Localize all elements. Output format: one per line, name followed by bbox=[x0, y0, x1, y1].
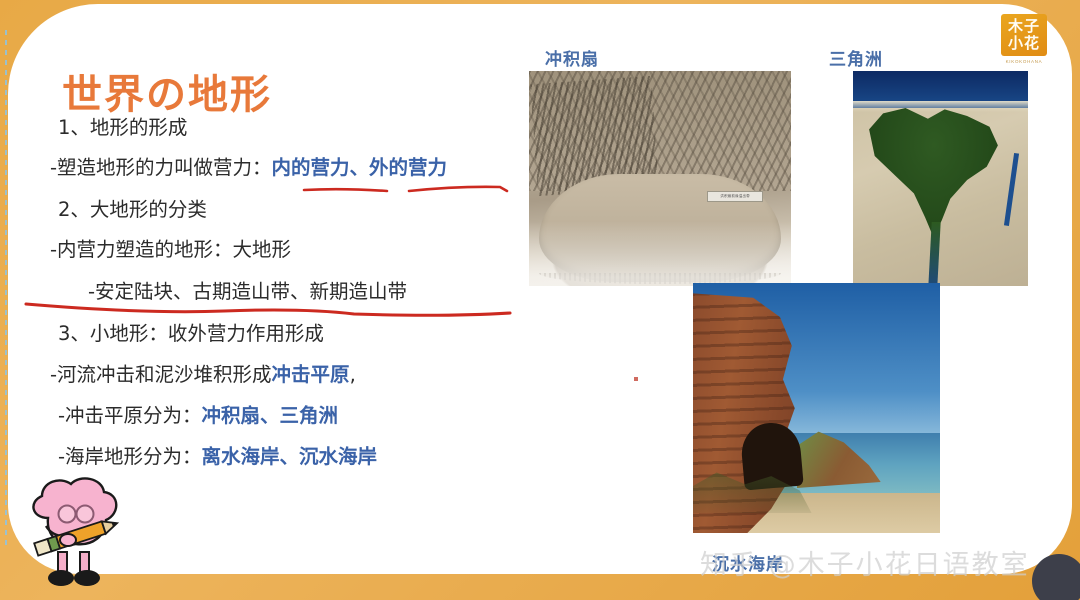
decorative-dashed-line bbox=[5, 30, 7, 550]
line-plain-text: -冲击平原分为： bbox=[58, 404, 202, 427]
body-line-item-3-a: -河流冲击和泥沙堆积形成冲击平原, bbox=[50, 365, 356, 385]
photo-fan-inner-label: 洪积扇前缘溢出带 bbox=[707, 191, 763, 202]
caption-alluvial-fan: 冲积扇 bbox=[545, 45, 599, 70]
line-plain-text: -河流冲击和泥沙堆积形成 bbox=[50, 363, 272, 386]
line-suffix-text: , bbox=[350, 363, 356, 386]
line-plain-text: -塑造地形的力叫做营力： bbox=[50, 156, 272, 179]
body-line-item-2-sub: -安定陆块、古期造山带、新期造山带 bbox=[88, 282, 407, 302]
line-highlight-text: 冲积扇、三角洲 bbox=[202, 404, 339, 427]
photo-fan-foreground bbox=[529, 71, 791, 286]
caption-sea-cliff: 沉水海岸 bbox=[712, 550, 784, 575]
brand-logo: 木子 小花 KIKOKOHANA bbox=[996, 14, 1052, 64]
caption-delta: 三角洲 bbox=[829, 45, 883, 70]
body-line-item-2-detail: -内营力塑造的地形：大地形 bbox=[50, 240, 291, 260]
mascot-pink-cloud-character bbox=[18, 474, 138, 592]
mascot-illustration bbox=[18, 474, 138, 592]
line-highlight-text: 冲击平原 bbox=[272, 363, 350, 386]
body-line-item-3-c: -海岸地形分为：离水海岸、沉水海岸 bbox=[58, 447, 377, 467]
logo-line-1: 木子 bbox=[1008, 19, 1040, 34]
body-line-item-2: 2、大地形的分类 bbox=[58, 200, 207, 220]
body-line-item-1-detail: -塑造地形的力叫做营力：内的营力、外的营力 bbox=[50, 158, 447, 178]
body-line-item-3: 3、小地形：收外营力作用形成 bbox=[58, 324, 324, 344]
photo-delta-coastline bbox=[853, 101, 1028, 112]
line-plain-text: -海岸地形分为： bbox=[58, 445, 202, 468]
body-line-item-3-b: -冲击平原分为：冲积扇、三角洲 bbox=[58, 406, 338, 426]
slide-canvas: 木子 小花 KIKOKOHANA 世界の地形 1、地形的形成 -塑造地形的力叫做… bbox=[0, 0, 1080, 600]
photo-sea-cliff bbox=[693, 283, 940, 533]
red-underline-landmass-list bbox=[24, 300, 514, 314]
logo-badge: 木子 小花 bbox=[1001, 14, 1047, 56]
red-underline-outer-force bbox=[408, 185, 508, 195]
logo-subtitle: KIKOKOHANA bbox=[996, 59, 1052, 64]
red-underline-inner-force bbox=[303, 186, 389, 194]
decorative-corner-circle bbox=[1032, 554, 1080, 600]
photo-delta bbox=[853, 71, 1028, 286]
stray-red-dot bbox=[634, 377, 638, 381]
line-highlight-text: 内的营力、外的营力 bbox=[272, 156, 448, 179]
logo-line-2: 小花 bbox=[1008, 36, 1040, 51]
line-highlight-text: 离水海岸、沉水海岸 bbox=[202, 445, 378, 468]
body-line-item-1: 1、地形的形成 bbox=[58, 118, 187, 138]
slide-title: 世界の地形 bbox=[62, 62, 272, 120]
photo-alluvial-fan: 洪积扇前缘溢出带 bbox=[529, 71, 791, 286]
